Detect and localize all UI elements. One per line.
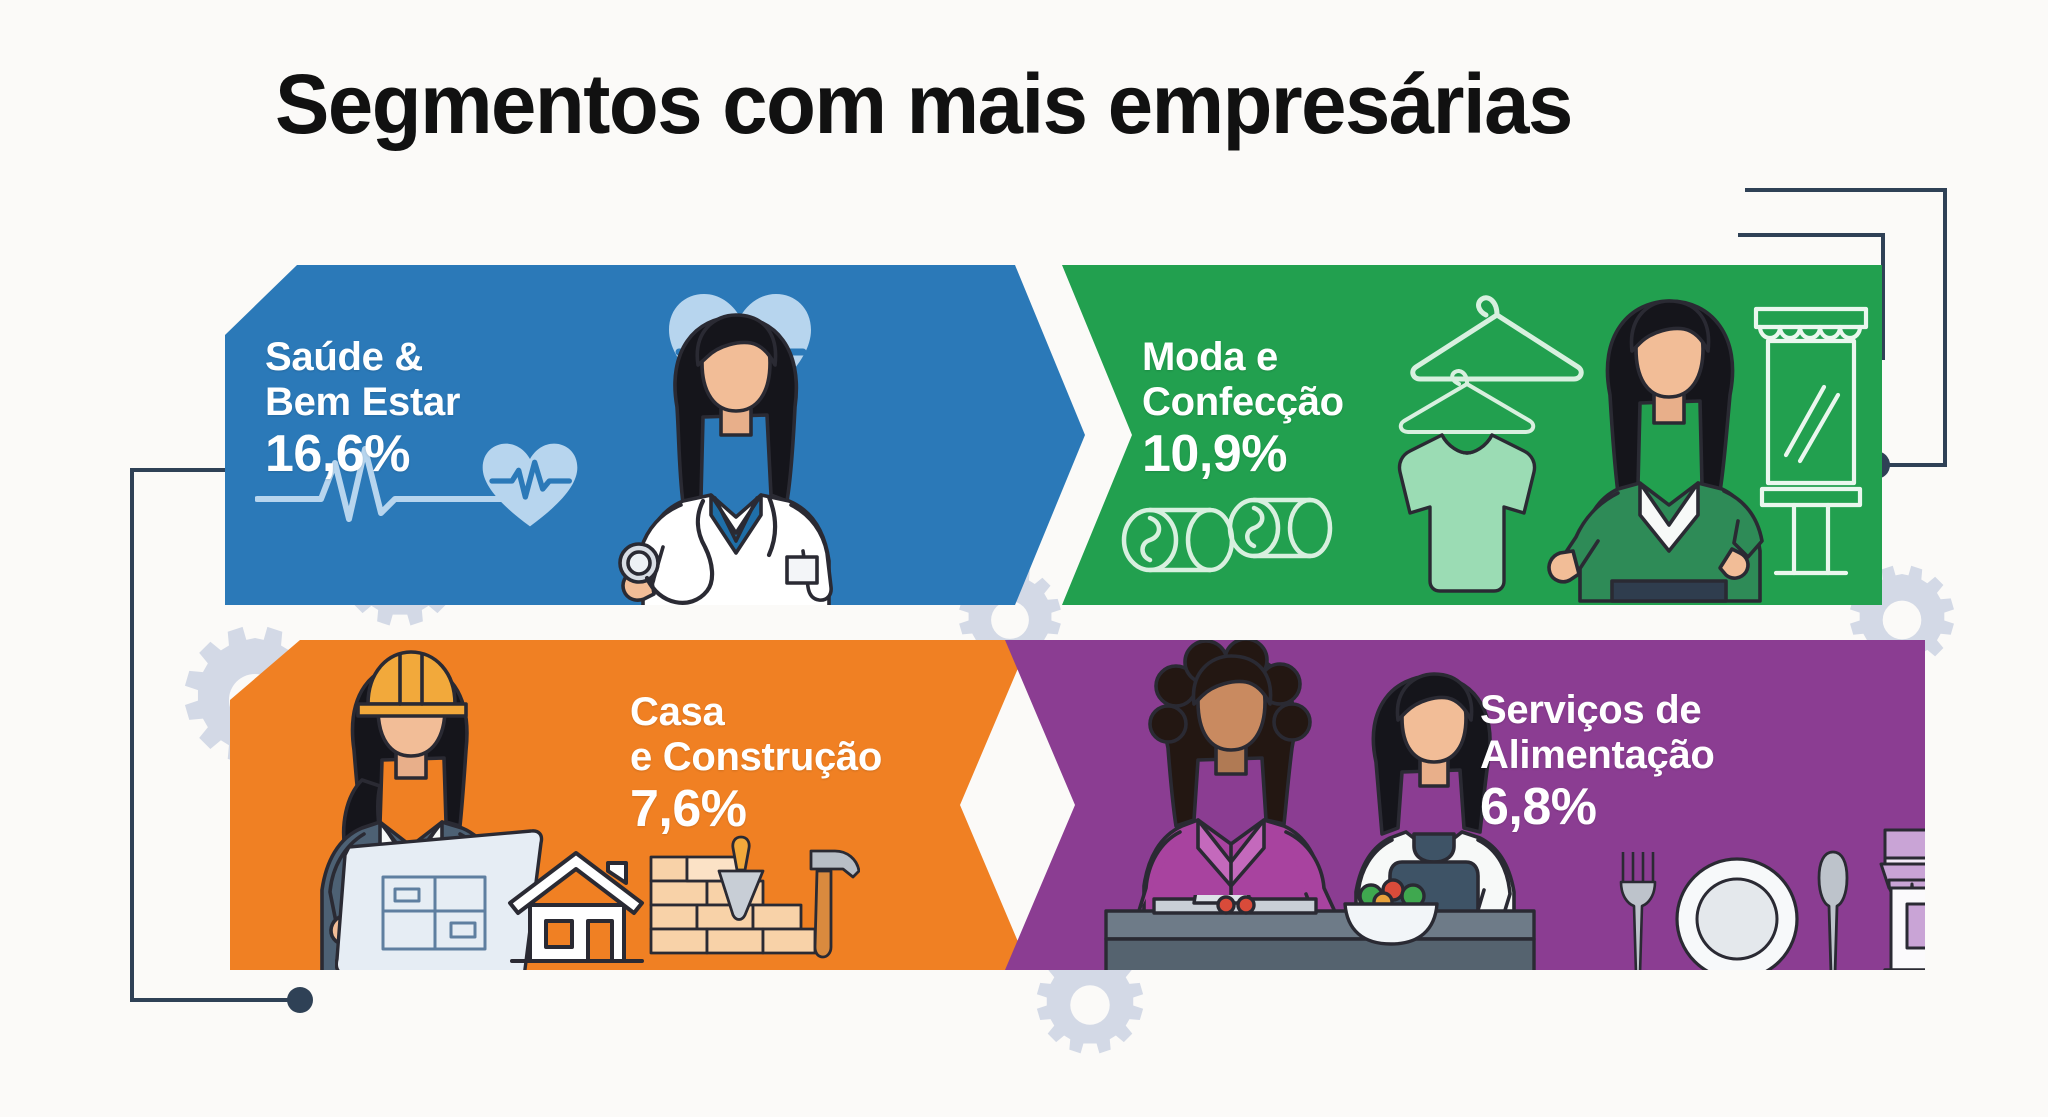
knife-icon — [1815, 848, 1851, 970]
segment-percent: 6,8% — [1480, 780, 1715, 835]
segment-card-servicos-alimentacao[interactable]: CAFE Serviç — [1005, 640, 1925, 970]
cutting-board-icon — [1100, 895, 1540, 970]
segment-label-line2: e Construção — [630, 735, 882, 780]
mirror-stand-icon — [1742, 283, 1882, 583]
segment-label-line1: Serviços de — [1480, 688, 1715, 733]
segment-card-moda-confeccao[interactable]: Moda e Confecção 10,9% — [1062, 265, 1882, 605]
segment-label-line1: Casa — [630, 690, 882, 735]
segment-label-line1: Saúde & — [265, 335, 460, 380]
brick-wall-icon — [645, 835, 860, 970]
segment-label-line2: Bem Estar — [265, 380, 460, 425]
infographic-canvas: Segmentos com mais empresárias — [0, 0, 2048, 1117]
segment-label-line1: Moda e — [1142, 335, 1344, 380]
fabric-roll-icon — [1114, 470, 1344, 580]
cafe-storefront-icon: CAFE — [1877, 826, 1925, 970]
segment-percent: 10,9% — [1142, 427, 1344, 482]
fork-icon — [1617, 848, 1663, 970]
plate-icon — [1673, 855, 1801, 970]
segment-card-saude-bem-estar[interactable]: Saúde & Bem Estar 16,6% — [225, 265, 1085, 605]
segment-percent: 7,6% — [630, 782, 882, 837]
page-title: Segmentos com mais empresárias — [275, 60, 1788, 148]
segment-label-line2: Confecção — [1142, 380, 1344, 425]
segment-label-line2: Alimentação — [1480, 733, 1715, 778]
doctor-illustration — [555, 295, 915, 605]
salad-bowl-icon — [1325, 868, 1455, 948]
segment-percent: 16,6% — [265, 427, 460, 482]
house-icon — [500, 845, 655, 970]
segment-card-casa-construcao[interactable]: Casa e Construção 7,6% — [230, 640, 1030, 970]
